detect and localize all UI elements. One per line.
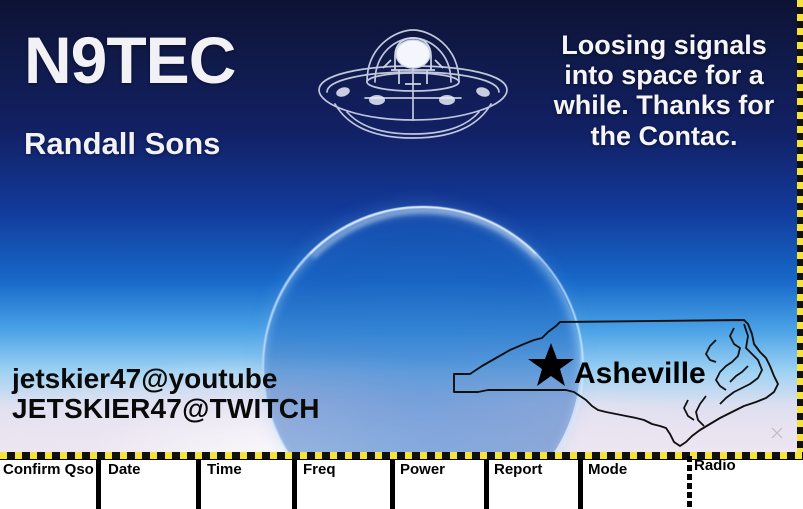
- twitch-handle: JETSKIER47@TWITCH: [12, 394, 320, 424]
- column-header-time[interactable]: Time: [207, 461, 242, 478]
- column-header-date[interactable]: Date: [108, 461, 141, 478]
- selection-border-right: [797, 0, 803, 452]
- column-header-radio[interactable]: Radio: [694, 457, 736, 474]
- column-divider: [292, 460, 297, 509]
- column-header-power[interactable]: Power: [400, 461, 445, 478]
- column-header-freq[interactable]: Freq: [303, 461, 336, 478]
- column-divider: [196, 460, 201, 509]
- column-divider: [484, 460, 489, 509]
- column-header-confirm-qso[interactable]: Confirm Qso: [3, 461, 94, 478]
- qsl-card: N9TEC Randall Sons: [0, 0, 803, 509]
- operator-name: Randall Sons: [24, 128, 220, 159]
- column-divider: [578, 460, 583, 509]
- column-header-report[interactable]: Report: [494, 461, 542, 478]
- column-divider: [96, 460, 101, 509]
- flying-saucer-icon: [305, 12, 520, 142]
- column-divider-radio: [687, 456, 692, 509]
- column-header-mode[interactable]: Mode: [588, 461, 627, 478]
- selection-border-top: [0, 452, 803, 460]
- log-table: Confirm Qso Date Time Freq Power Report …: [0, 452, 803, 509]
- contact-handles: jetskier47@youtube JETSKIER47@TWITCH: [12, 364, 320, 424]
- column-divider: [390, 460, 395, 509]
- callsign: N9TEC: [24, 27, 235, 93]
- star-marker-icon: [528, 342, 574, 388]
- city-label: Asheville: [574, 359, 706, 389]
- youtube-handle: jetskier47@youtube: [12, 364, 320, 394]
- qsl-message: Loosing signals into space for a while. …: [551, 30, 777, 151]
